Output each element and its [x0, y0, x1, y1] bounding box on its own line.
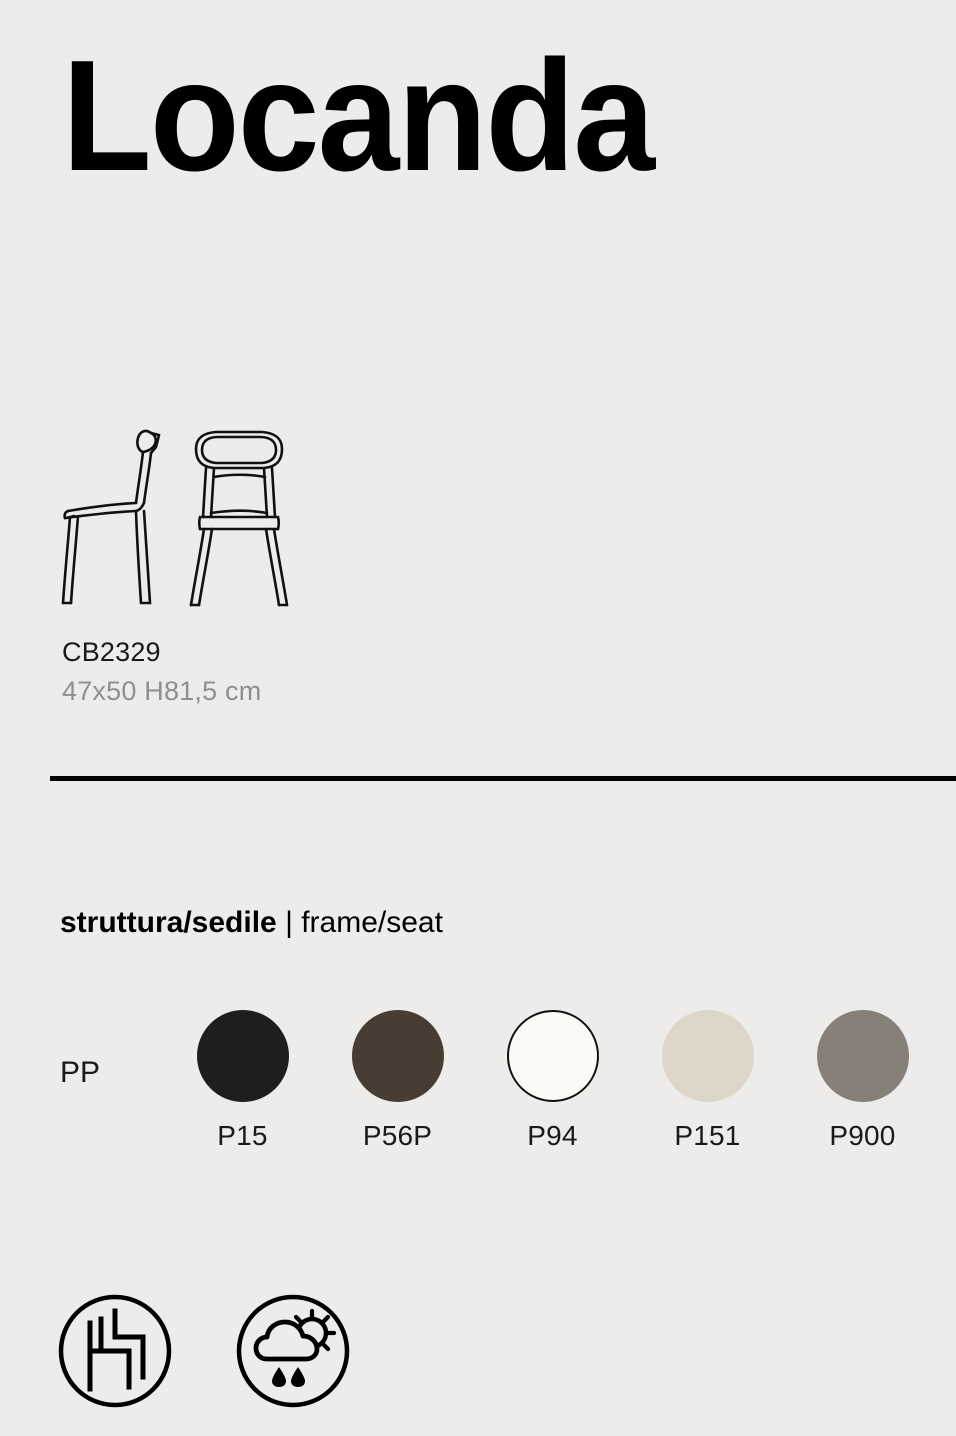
section-heading-separator: |: [277, 906, 301, 939]
stackable-chairs-icon[interactable]: [57, 1293, 173, 1409]
swatch-color-dot[interactable]: [662, 1010, 754, 1102]
section-heading-italian: struttura/sedile: [60, 906, 277, 939]
product-meta: CB2329 47x50 H81,5 cm: [62, 633, 482, 711]
chair-side-view-icon: [63, 431, 159, 603]
outdoor-weather-resistant-icon[interactable]: [235, 1293, 351, 1409]
section-heading: struttura/sedile | frame/seat: [60, 906, 443, 940]
section-heading-english: frame/seat: [301, 906, 443, 939]
swatch-list: P15P56PP94P151P900: [165, 1010, 940, 1152]
material-type-label: PP: [60, 1056, 100, 1090]
swatch-color-dot[interactable]: [817, 1010, 909, 1102]
swatch-color-dot[interactable]: [352, 1010, 444, 1102]
product-dimensions: 47x50 H81,5 cm: [62, 672, 482, 711]
swatch-color-dot[interactable]: [507, 1010, 599, 1102]
swatch-code-label: P94: [527, 1120, 577, 1152]
swatch-code-label: P151: [674, 1120, 740, 1152]
swatch-code-label: P15: [217, 1120, 267, 1152]
swatch-code-label: P56P: [363, 1120, 432, 1152]
swatch-code-label: P900: [829, 1120, 895, 1152]
product-code: CB2329: [62, 633, 482, 672]
material-swatch-section: PP P15P56PP94P151P900: [60, 1010, 940, 1160]
section-divider: [50, 776, 956, 781]
swatch-p94[interactable]: P94: [475, 1010, 630, 1152]
swatch-p151[interactable]: P151: [630, 1010, 785, 1152]
page-title: Locanda: [62, 34, 653, 200]
chair-front-view-icon: [191, 432, 287, 605]
swatch-p56p[interactable]: P56P: [320, 1010, 475, 1152]
feature-icon-row: [57, 1293, 351, 1409]
swatch-p900[interactable]: P900: [785, 1010, 940, 1152]
product-drawing: [50, 425, 300, 615]
swatch-p15[interactable]: P15: [165, 1010, 320, 1152]
swatch-color-dot[interactable]: [197, 1010, 289, 1102]
